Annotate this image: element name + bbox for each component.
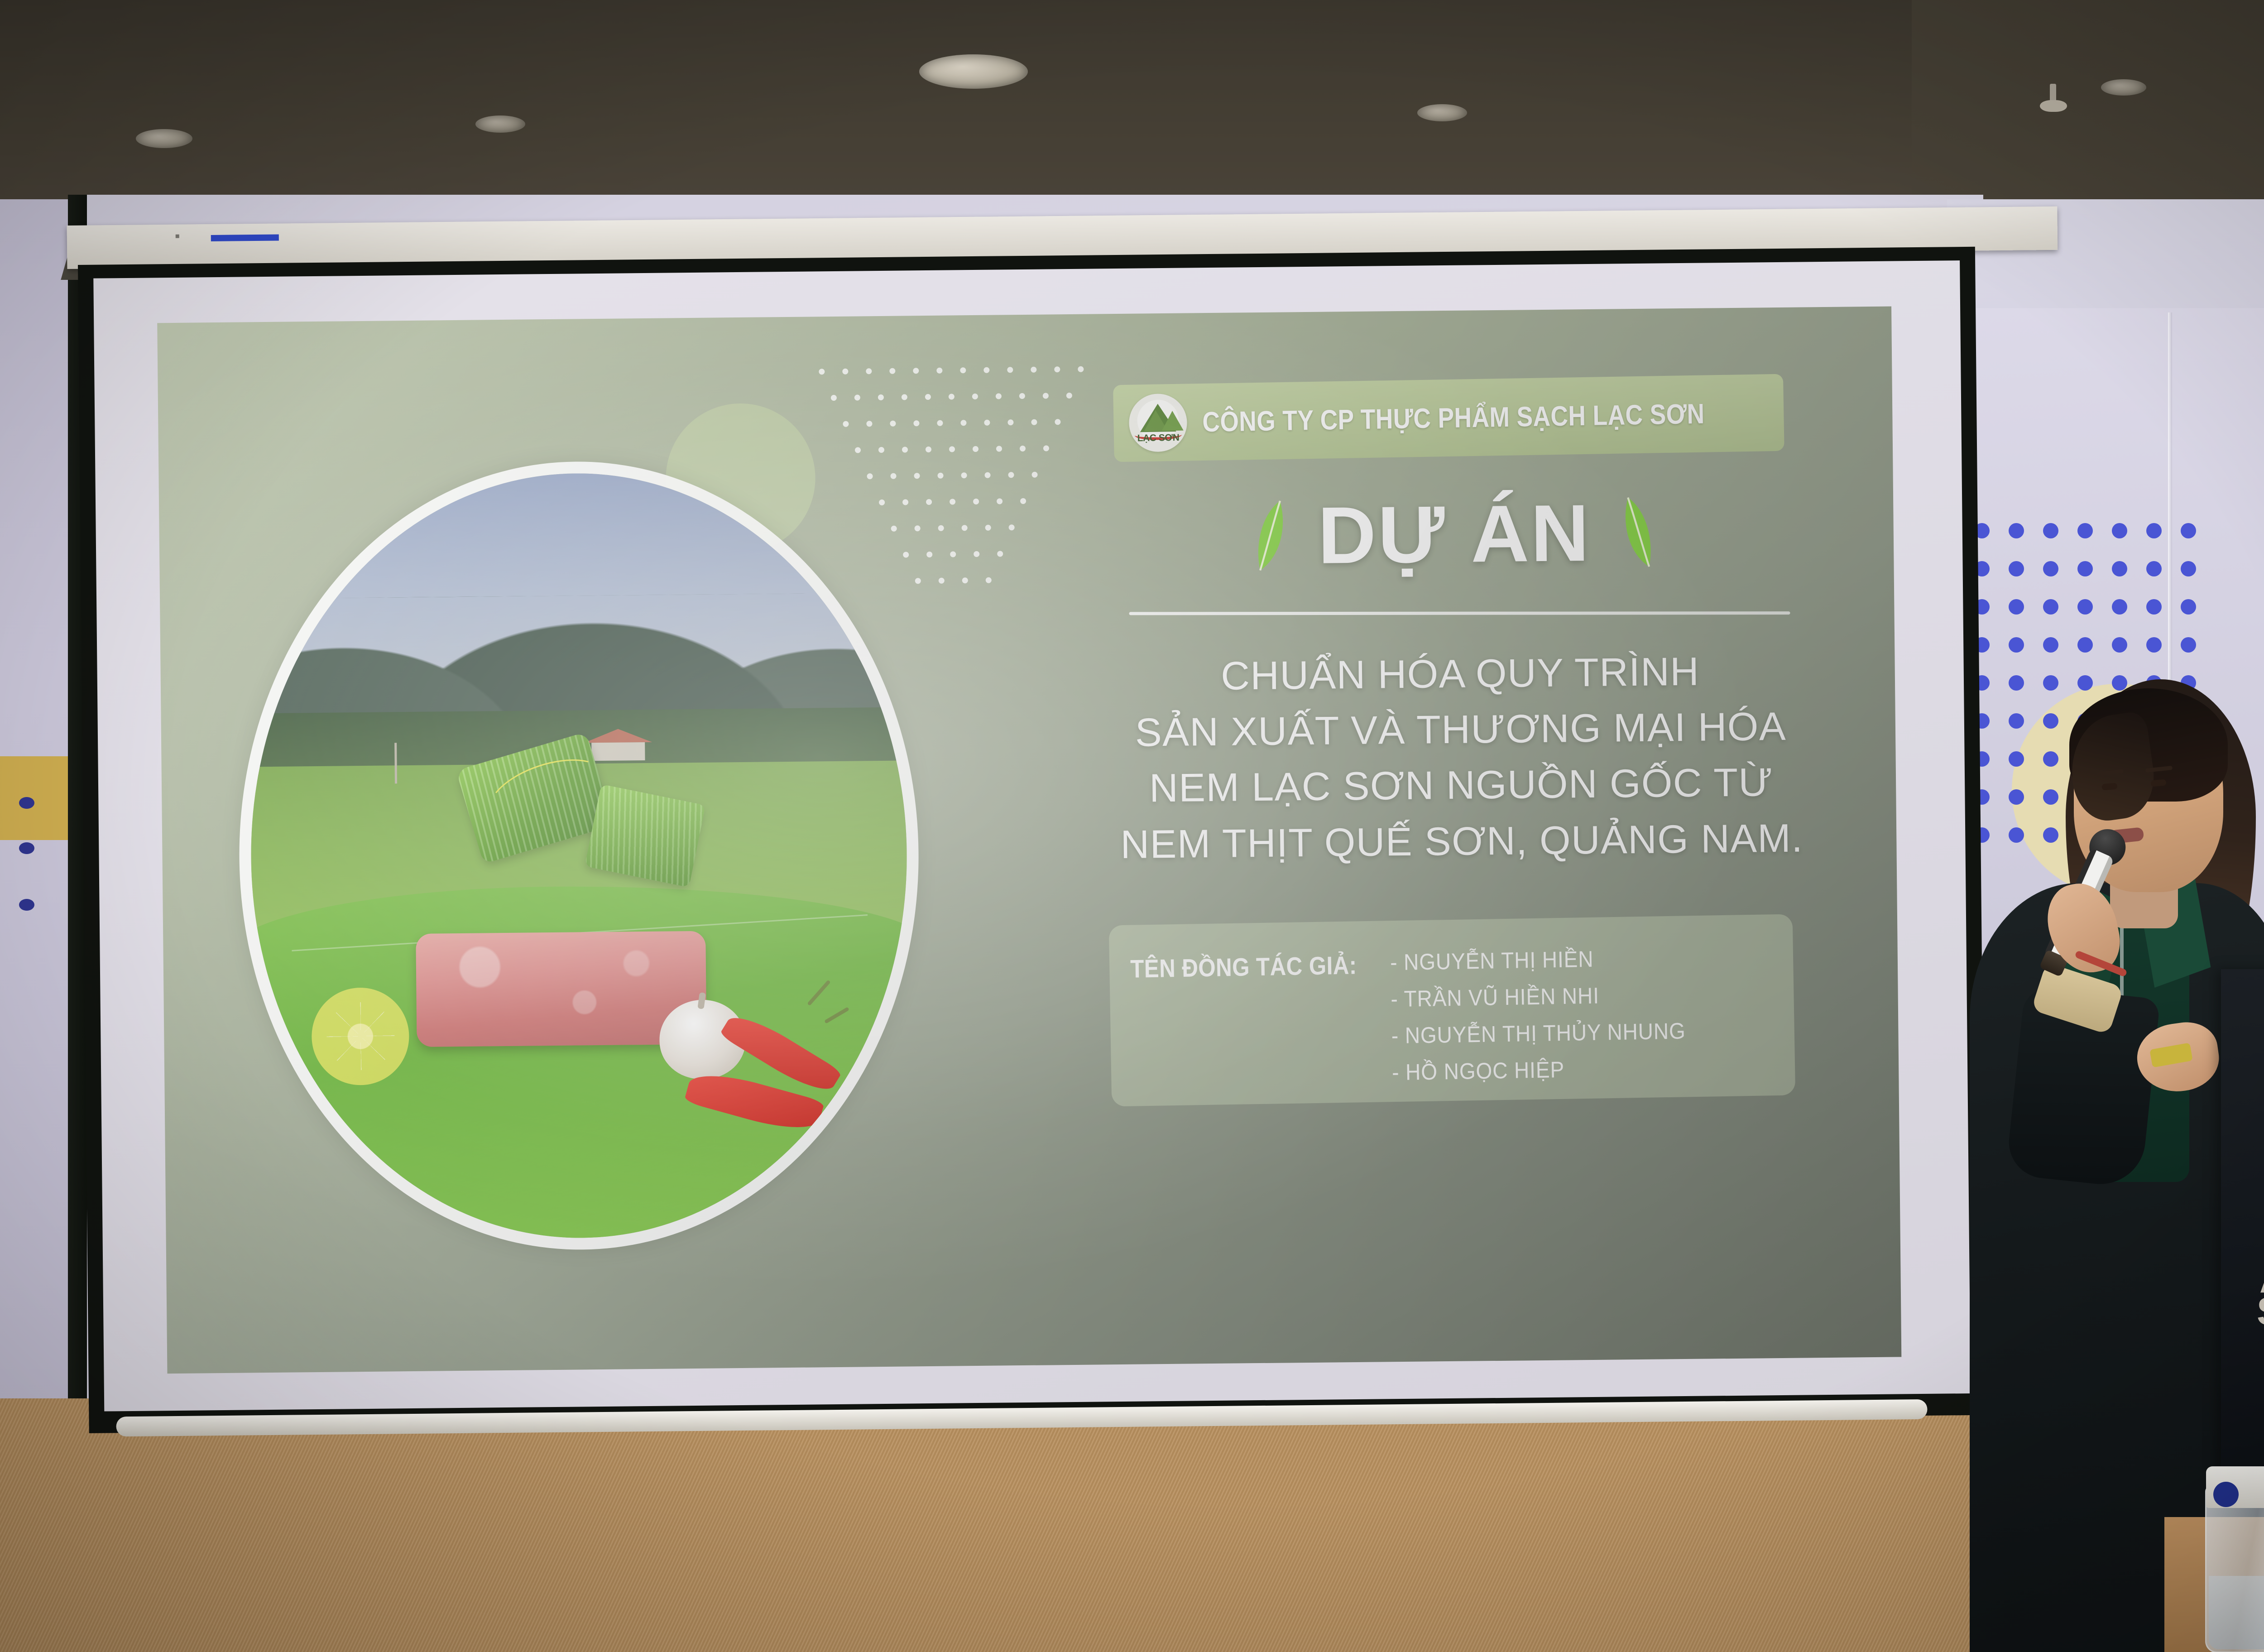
slide-dot <box>831 395 837 401</box>
sprinkler-head-icon <box>2040 84 2067 115</box>
slide-dot <box>926 552 932 557</box>
logo-text: LẠC SƠN <box>1129 432 1187 444</box>
slide-dot <box>914 473 920 479</box>
slide-dot <box>925 394 931 400</box>
water-carafe[interactable] <box>2205 1458 2264 1652</box>
blue-dot <box>2146 523 2162 538</box>
blue-dot <box>2181 523 2196 538</box>
authors-label: TÊN ĐỒNG TÁC GIẢ: <box>1130 950 1357 983</box>
subtitle-line: NEM THỊT QUẾ SƠN, QUẢNG NAM. <box>1090 809 1833 872</box>
slide-dot <box>843 421 849 427</box>
ceiling-downlight-icon <box>136 129 192 148</box>
page-title: DỰ ÁN <box>1317 486 1591 581</box>
blue-dot <box>2043 523 2058 538</box>
slide-dot <box>889 368 895 374</box>
blue-dot <box>2009 523 2024 538</box>
blue-dot-decor <box>19 797 34 809</box>
slide-right-column: LẠC SƠN CÔNG TY CP THỰC PHẨM SẠCH LẠC SƠ… <box>968 361 1837 1321</box>
slide-dot <box>902 394 907 400</box>
blue-dot <box>2009 561 2024 576</box>
slide-subtitle: CHUẨN HÓA QUY TRÌNH SẢN XUẤT VÀ THƯƠNG M… <box>1089 642 1833 872</box>
product-photo <box>235 458 922 1253</box>
slide-dot <box>949 394 955 399</box>
slide-dot <box>854 394 860 400</box>
slide-dot <box>938 525 944 531</box>
list-item: - NGUYỄN THỊ THỦY NHUNG <box>1391 1012 1750 1054</box>
slide-dot <box>890 421 896 427</box>
slide-dot <box>819 369 825 375</box>
slide-dot <box>913 420 919 426</box>
projected-slide[interactable]: LẠC SƠN CÔNG TY CP THỰC PHẨM SẠCH LẠC SƠ… <box>157 307 1901 1374</box>
blue-dot <box>2112 561 2127 576</box>
photo-utility-pole <box>394 743 397 783</box>
housing-label <box>211 235 279 241</box>
slide-dot <box>855 447 861 453</box>
slide-dot <box>949 446 955 452</box>
blue-dot <box>2146 561 2162 576</box>
title-divider <box>1129 611 1790 615</box>
slide-dot <box>842 369 848 375</box>
slide-dot <box>878 447 884 453</box>
company-brand-bar: LẠC SƠN CÔNG TY CP THỰC PHẨM SẠCH LẠC SƠ… <box>1113 374 1784 462</box>
blue-dot <box>2077 561 2093 576</box>
slide-dot <box>913 368 919 374</box>
ceiling-downlight-icon <box>919 54 1028 89</box>
slide-dot <box>902 447 908 452</box>
slide-dot <box>926 499 932 505</box>
slide-dot <box>926 447 931 452</box>
slide-dot <box>950 499 955 504</box>
speaker-brand-logo: AT SX <box>2259 1263 2264 1331</box>
leaf-icon <box>1617 494 1657 571</box>
ceiling-downlight-icon <box>2101 79 2146 96</box>
blue-dot <box>2077 599 2093 615</box>
blue-dot-decor <box>19 842 34 854</box>
loudspeaker-cabinet <box>2221 969 2264 1490</box>
list-item: - HỒ NGỌC HIỆP <box>1392 1048 1751 1091</box>
list-item: - TRẦN VŨ HIỀN NHI <box>1391 975 1749 1018</box>
photo-house-roof <box>584 729 652 743</box>
lac-son-logo-icon: LẠC SƠN <box>1128 394 1187 452</box>
blue-dot <box>2181 561 2196 576</box>
slide-dot <box>915 578 921 584</box>
projection-screen[interactable]: LẠC SƠN CÔNG TY CP THỰC PHẨM SẠCH LẠC SƠ… <box>78 247 1986 1433</box>
blue-dot <box>2043 599 2058 615</box>
ceiling-downlight-icon <box>1417 104 1467 121</box>
carpet-floor <box>0 1398 2264 1652</box>
blue-dot-decor <box>19 899 34 911</box>
subtitle-line: CHUẨN HÓA QUY TRÌNH <box>1089 642 1832 705</box>
blue-dot <box>2146 599 2162 615</box>
authors-list: - NGUYỄN THỊ HIỀN - TRẦN VŨ HIỀN NHI - N… <box>1390 938 1782 1091</box>
slide-dot <box>878 394 884 400</box>
slide-dot <box>961 472 967 478</box>
speaker-logo-line: SX <box>2257 1296 2264 1328</box>
blue-dot <box>2112 523 2127 538</box>
photo-house <box>584 729 652 761</box>
screen-surface: LẠC SƠN CÔNG TY CP THỰC PHẨM SẠCH LẠC SƠ… <box>93 260 1971 1411</box>
slide-dot <box>915 525 921 531</box>
conference-room: LẠC SƠN CÔNG TY CP THỰC PHẨM SẠCH LẠC SƠ… <box>0 0 2264 1652</box>
blue-dot <box>2009 599 2024 615</box>
slide-dot <box>950 551 956 557</box>
subtitle-line: NEM LẠC SƠN NGUỒN GỐC TỪ <box>1090 754 1833 816</box>
logo-mountain-shape <box>1161 411 1184 431</box>
slide-dot <box>937 420 943 426</box>
carafe-water <box>2209 1576 2264 1649</box>
slide-dot <box>960 367 966 373</box>
ceiling-downlight-icon <box>475 115 525 133</box>
photo-house-body <box>592 742 645 761</box>
blue-dot <box>2077 523 2093 538</box>
subtitle-line: SẢN XUẤT VÀ THƯƠNG MẠI HÓA <box>1089 698 1832 761</box>
left-wall-panel <box>0 199 79 1422</box>
slide-dot <box>866 421 872 427</box>
leaf-icon <box>1252 497 1291 574</box>
company-name: CÔNG TY CP THỰC PHẨM SẠCH LẠC SƠN <box>1202 398 1705 438</box>
slide-dot <box>937 473 943 479</box>
blue-dot <box>2112 599 2127 615</box>
list-item: - NGUYỄN THỊ HIỀN <box>1390 938 1749 981</box>
authors-box: TÊN ĐỒNG TÁC GIẢ: - NGUYỄN THỊ HIỀN - TR… <box>1109 914 1795 1106</box>
housing-tab <box>176 235 179 238</box>
product-photo-content <box>248 471 911 1241</box>
slide-dot <box>962 525 968 531</box>
slide-title-row: DỰ ÁN <box>1105 478 1804 589</box>
slide-dot <box>962 577 968 583</box>
slide-dot <box>866 368 872 374</box>
slide-dot <box>939 578 945 584</box>
slide-dot <box>936 368 942 374</box>
blue-dot <box>2043 561 2058 576</box>
gold-band-decor <box>0 756 79 840</box>
blue-dot <box>2181 599 2196 615</box>
carafe-brand-badge <box>2213 1482 2239 1507</box>
slide-dot <box>960 420 966 426</box>
